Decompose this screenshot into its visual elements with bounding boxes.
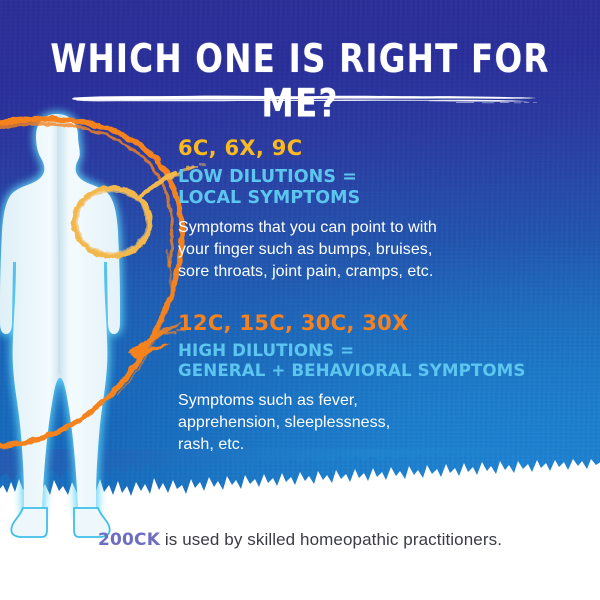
title-block: WHICH ONE IS RIGHT FOR ME? <box>0 42 600 122</box>
high-desc-line1: Symptoms such as fever, <box>178 392 358 409</box>
infographic-root: WHICH ONE IS RIGHT FOR ME? <box>0 0 600 600</box>
high-desc-line3: rash, etc. <box>178 436 244 453</box>
footer-text: is used by skilled homeopathic practitio… <box>160 530 502 549</box>
high-dilution-label-line1: HIGH DILUTIONS = <box>178 341 354 361</box>
low-dilution-label-line2: LOCAL SYMPTOMS <box>178 187 360 208</box>
low-desc-line3: sore throats, joint pain, cramps, etc. <box>178 263 433 280</box>
low-dilution-description: Symptoms that you can point to with your… <box>178 217 437 282</box>
low-dilution-label-line1: LOW DILUTIONS = <box>178 166 357 187</box>
section-high-dilutions: 12C, 15C, 30C, 30X HIGH DILUTIONS = GENE… <box>178 313 536 456</box>
high-dilution-label: HIGH DILUTIONS = GENERAL + BEHAVIORAL SY… <box>178 341 525 381</box>
section-low-dilutions: 6C, 6X, 9C LOW DILUTIONS = LOCAL SYMPTOM… <box>178 138 437 282</box>
title-underline-brushstroke <box>0 92 600 106</box>
low-dilution-label: LOW DILUTIONS = LOCAL SYMPTOMS <box>178 166 429 208</box>
low-desc-line2: your finger such as bumps, bruises, <box>178 241 432 258</box>
torn-edge-graphic <box>0 449 600 508</box>
high-dilution-description: Symptoms such as fever, apprehension, sl… <box>178 390 536 455</box>
high-dilution-code: 12C, 15C, 30C, 30X <box>178 313 536 334</box>
page-title: WHICH ONE IS RIGHT FOR ME? <box>21 37 579 127</box>
footer-code: 200CK <box>98 530 160 550</box>
low-desc-line1: Symptoms that you can point to with <box>178 219 437 236</box>
high-dilution-label-line2: GENERAL + BEHAVIORAL SYMPTOMS <box>178 361 525 381</box>
footer-note: 200CK is used by skilled homeopathic pra… <box>0 530 600 550</box>
high-desc-line2: apprehension, sleeplessness, <box>178 414 390 431</box>
low-dilution-code: 6C, 6X, 9C <box>178 138 437 159</box>
